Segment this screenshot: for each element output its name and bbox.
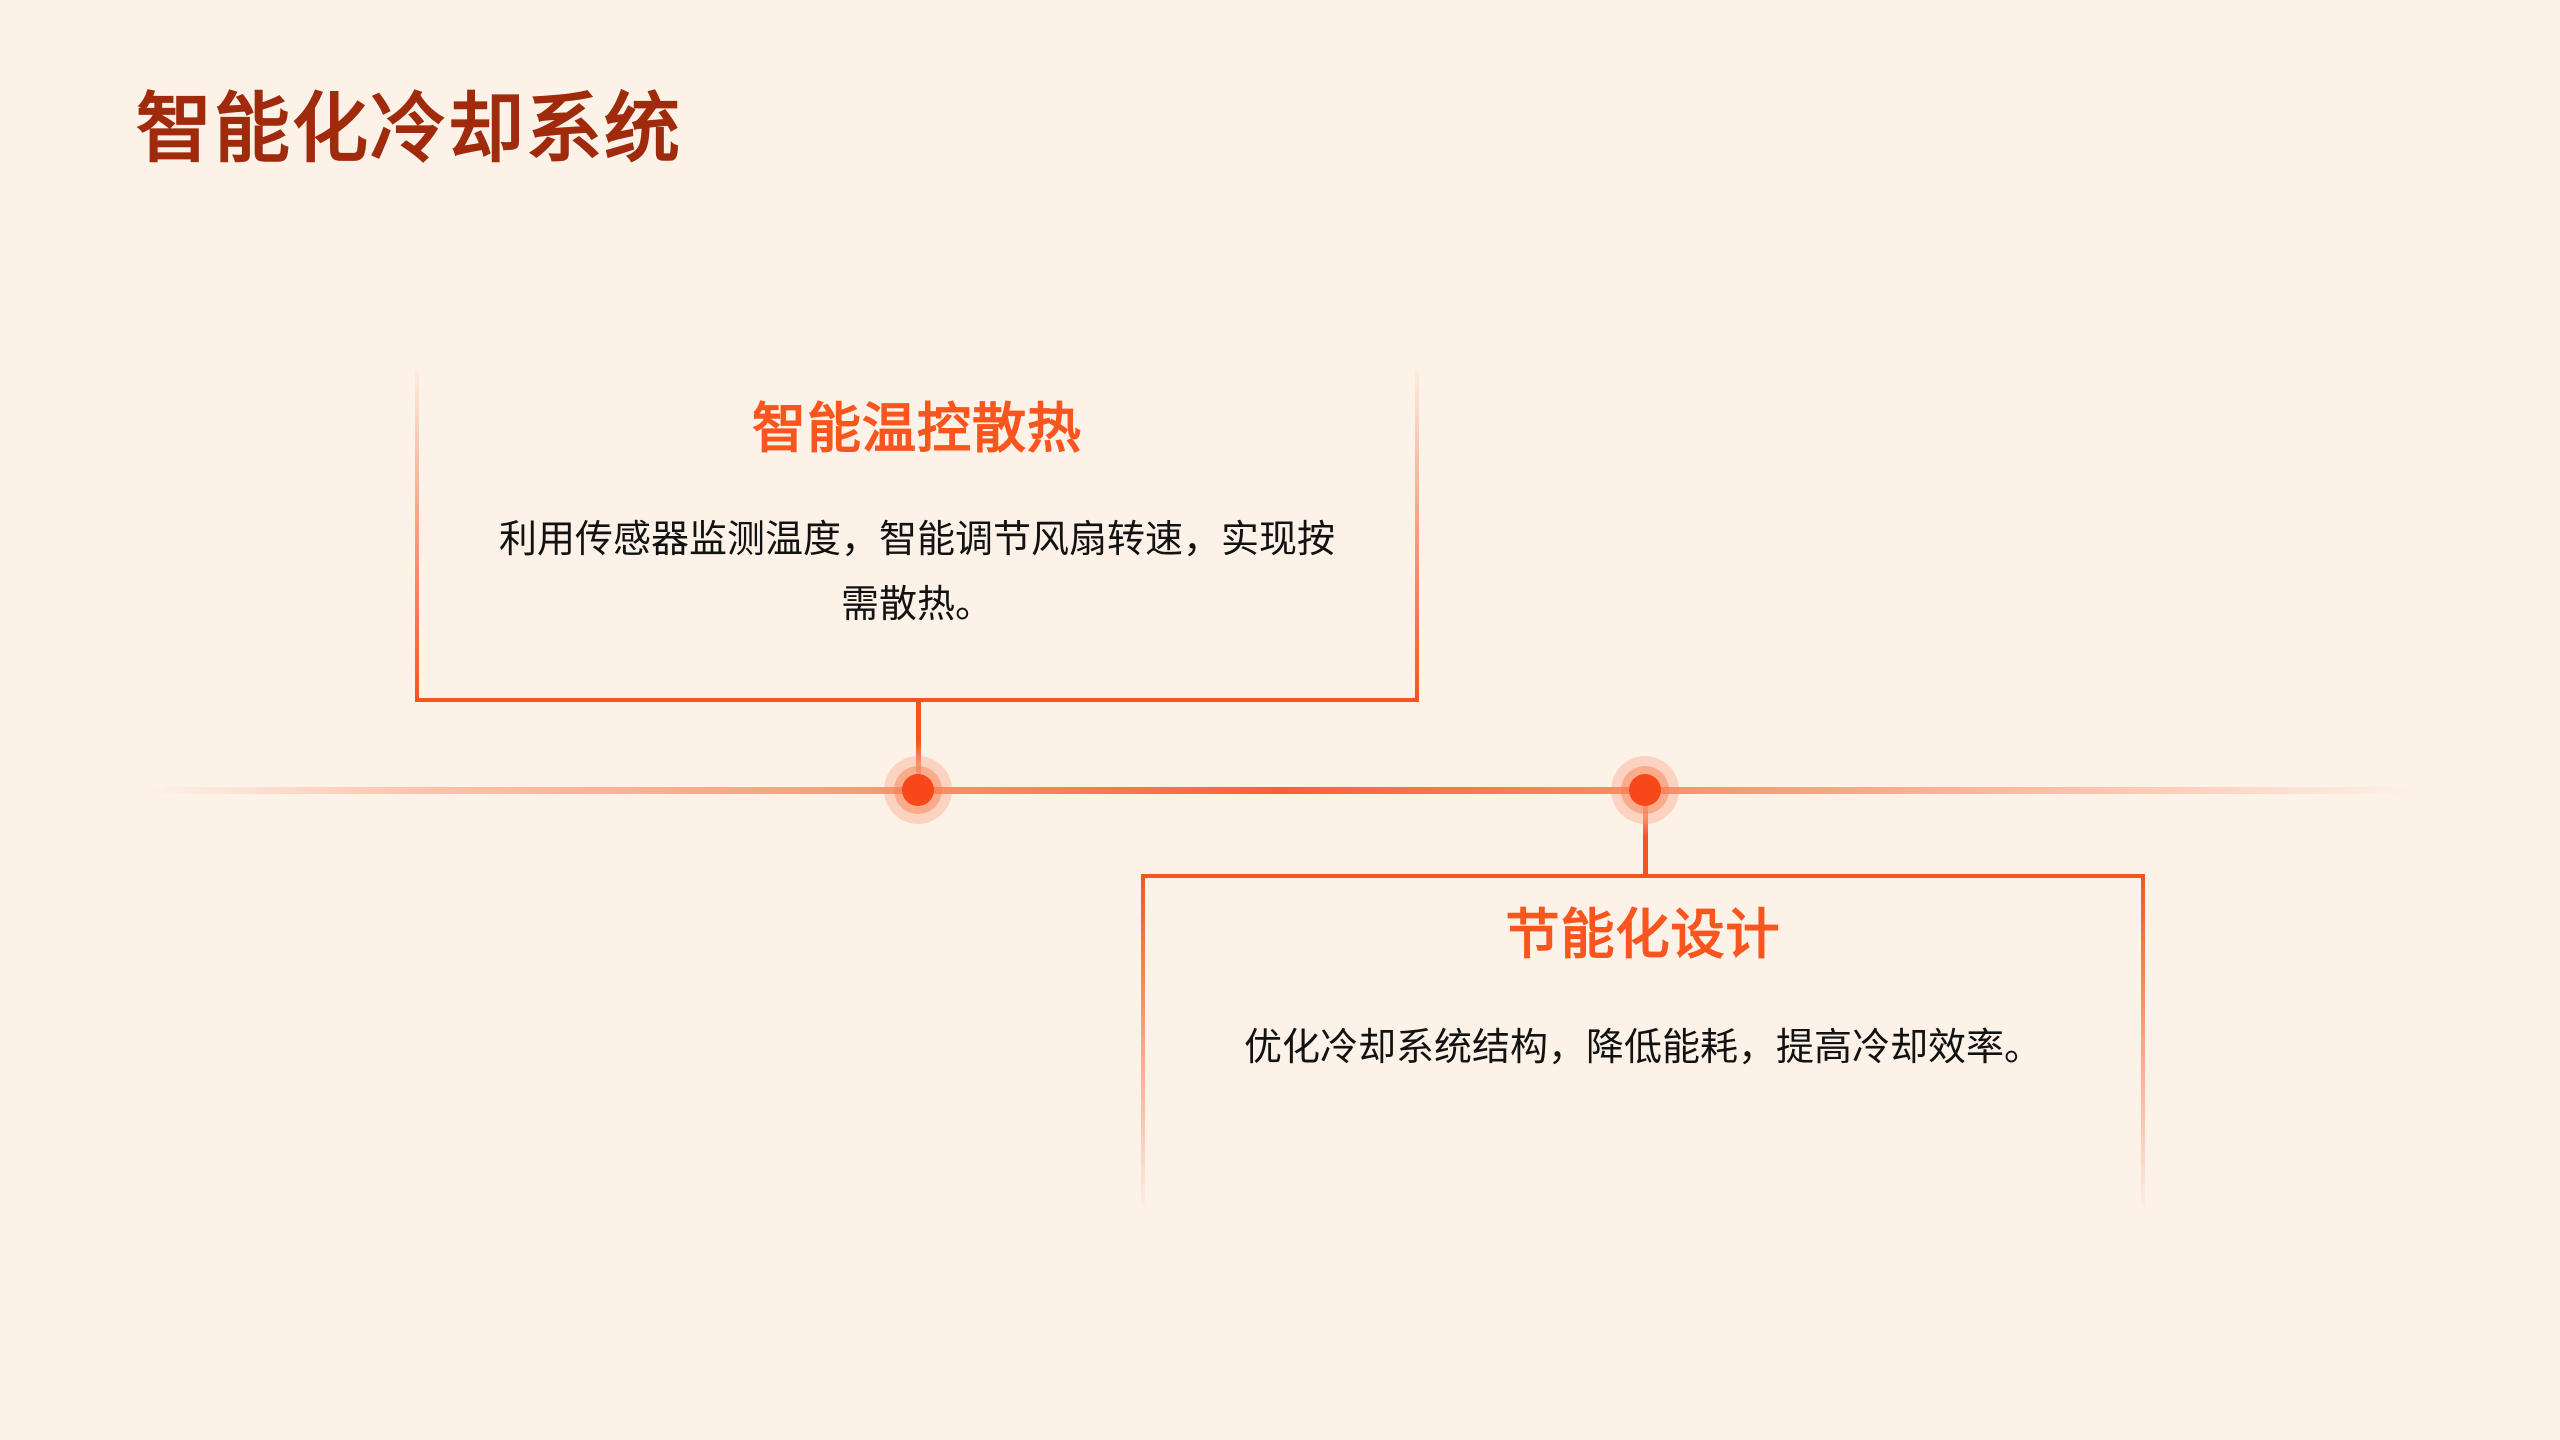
timeline-node-2-ring <box>1621 766 1669 814</box>
page-title: 智能化冷却系统 <box>136 92 682 168</box>
timeline-node-1[interactable] <box>884 756 952 824</box>
card-1-heading: 智能温控散热 <box>415 400 1419 459</box>
timeline-node-1-core <box>902 774 934 806</box>
card-1-body: 利用传感器监测温度，智能调节风扇转速，实现按需散热。 <box>482 508 1352 639</box>
timeline-card-2[interactable]: 节能化设计 优化冷却系统结构，降低能耗，提高冷却效率。 <box>1141 874 2145 1206</box>
timeline-node-1-ring <box>894 766 942 814</box>
timeline-card-1[interactable]: 智能温控散热 利用传感器监测温度，智能调节风扇转速，实现按需散热。 <box>415 370 1419 702</box>
card-2-heading: 节能化设计 <box>1141 906 2145 965</box>
slide-canvas: 智能化冷却系统 智能温控散热 利用传感器监测温度，智能调节风扇转速，实现按需散热… <box>0 0 2560 1440</box>
timeline-node-2[interactable] <box>1611 756 1679 824</box>
timeline-axis <box>145 787 2415 794</box>
timeline-node-2-core <box>1629 774 1661 806</box>
card-2-body: 优化冷却系统结构，降低能耗，提高冷却效率。 <box>1208 1016 2078 1081</box>
